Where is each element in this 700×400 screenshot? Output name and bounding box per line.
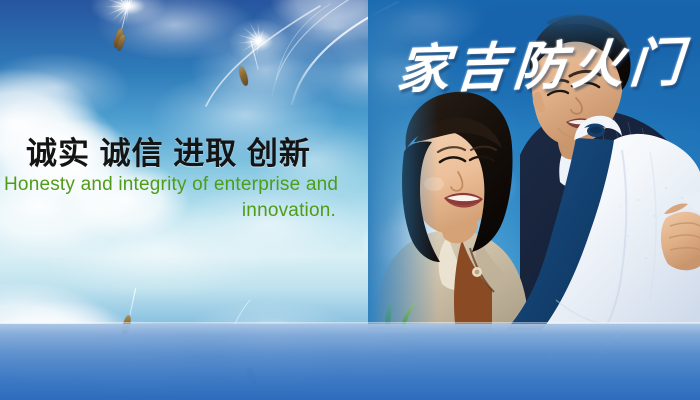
slogan-english-line1: Honesty and integrity of enterprise and (4, 172, 342, 198)
promotional-banner: 家吉防火门 诚实 诚信 进取 创新 Honesty and integrity … (0, 0, 700, 400)
seed-body (237, 65, 249, 86)
horizon-reflection-band (0, 324, 700, 400)
slogan-english-line2: innovation. (4, 198, 342, 224)
slogan-chinese: 诚实 诚信 进取 创新 (26, 128, 311, 173)
dandelion-seed-upper-mid (218, 18, 302, 96)
slogan-english: Honesty and integrity of enterprise and … (4, 172, 342, 224)
pappus-icon (228, 18, 290, 64)
brand-name-calligraphy: 家吉防火门 (395, 20, 692, 103)
pappus-icon (90, 0, 166, 26)
seed-body (112, 27, 124, 48)
dandelion-seed-top-edge (110, 30, 140, 70)
dandelion-seed-top-left (86, 0, 176, 56)
seed-body (116, 33, 127, 51)
